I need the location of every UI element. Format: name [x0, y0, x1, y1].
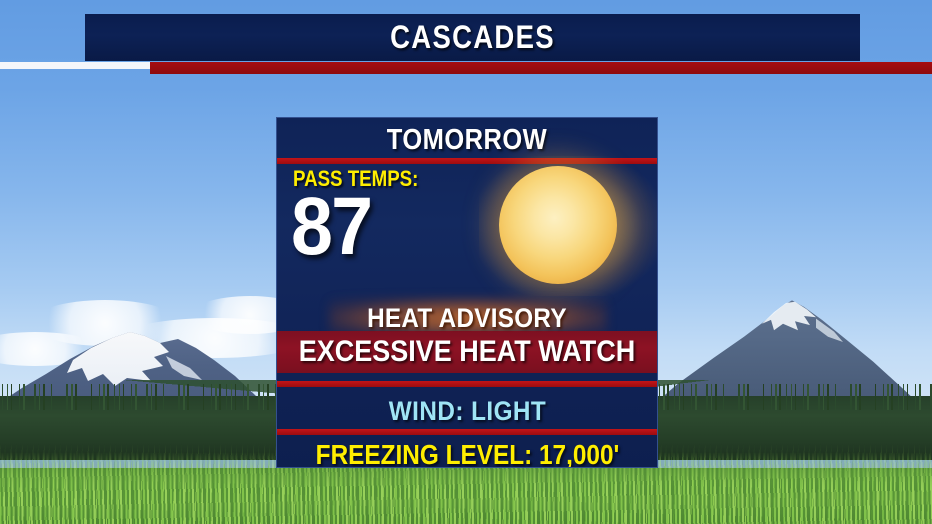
wind-row: WIND: LIGHT [277, 392, 657, 430]
wind-text: WIND: LIGHT [388, 396, 545, 427]
freezing-level-row: FREEZING LEVEL: 17,000' [277, 438, 657, 468]
freezing-level-text: FREEZING LEVEL: 17,000' [315, 439, 619, 468]
top-banner: CASCADES [0, 0, 932, 80]
divider-above-wind [277, 381, 657, 387]
divider-under-day [277, 158, 657, 164]
sun-icon [499, 166, 617, 284]
excessive-heat-watch-text: EXCESSIVE HEAT WATCH [299, 335, 636, 369]
banner-white-stripe [0, 62, 152, 69]
banner-title: CASCADES [139, 14, 806, 61]
heat-advisory-text: HEAT ADVISORY [367, 303, 567, 334]
banner-red-stripe [150, 62, 932, 74]
forecast-day-label: TOMORROW [300, 122, 634, 158]
banner-bar: CASCADES [85, 14, 860, 61]
forecast-panel: TOMORROW PASS TEMPS: 87 HEAT ADVISORY EX… [276, 117, 658, 468]
pass-temperature-value: 87 [291, 186, 475, 268]
excessive-heat-watch-band: EXCESSIVE HEAT WATCH [277, 331, 657, 373]
divider-above-freezing-level [277, 429, 657, 435]
